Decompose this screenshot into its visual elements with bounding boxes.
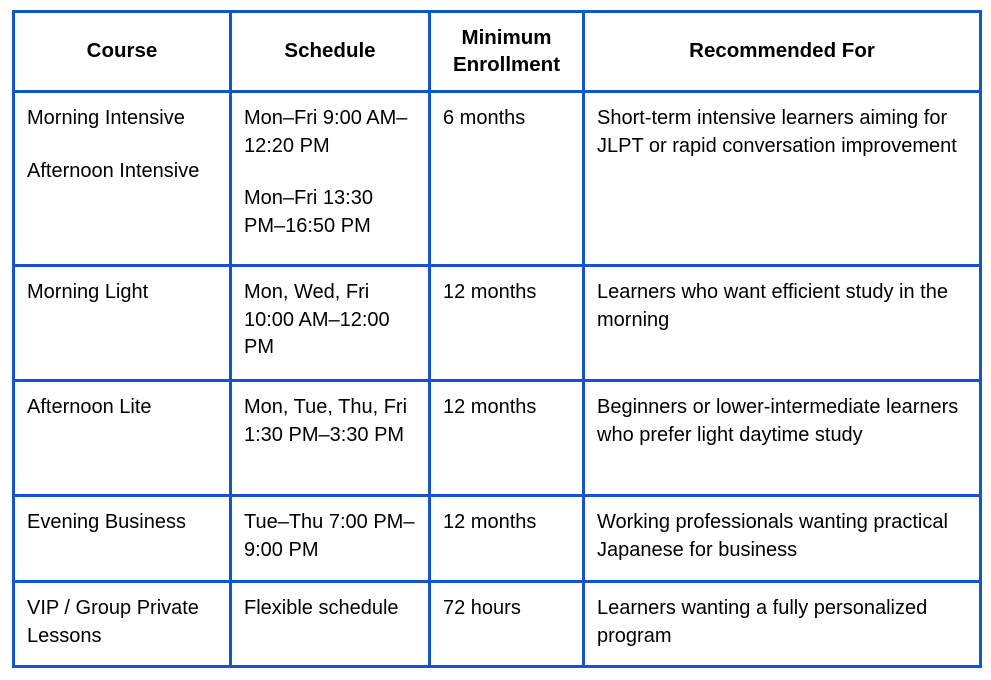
table-row: VIP / Group Private LessonsFlexible sche… — [14, 582, 981, 667]
cell-text: Mon, Wed, Fri 10:00 AM–12:00 PM — [244, 279, 418, 362]
cell-text: Tue–Thu 7:00 PM–9:00 PM — [244, 509, 418, 564]
column-header-minimum-enrollment: Minimum Enrollment — [430, 12, 584, 92]
cell-text: Working professionals wanting practical … — [597, 509, 969, 564]
cell-minimum: 72 hours — [430, 582, 584, 667]
cell-minimum: 12 months — [430, 266, 584, 381]
cell-text: Morning Light — [27, 279, 219, 307]
cell-course: VIP / Group Private Lessons — [14, 582, 231, 667]
cell-recommended: Learners who want efficient study in the… — [584, 266, 981, 381]
cell-minimum: 6 months — [430, 92, 584, 266]
course-comparison-table: Course Schedule Minimum Enrollment Recom… — [12, 10, 982, 668]
course-table-container: Course Schedule Minimum Enrollment Recom… — [12, 10, 979, 668]
cell-text: Afternoon Intensive — [27, 158, 219, 186]
cell-text: Beginners or lower-intermediate learners… — [597, 394, 969, 449]
cell-schedule: Mon–Fri 9:00 AM–12:20 PMMon–Fri 13:30 PM… — [231, 92, 430, 266]
cell-text: Mon, Tue, Thu, Fri 1:30 PM–3:30 PM — [244, 394, 418, 449]
cell-text: Short-term intensive learners aiming for… — [597, 105, 969, 160]
cell-text: Flexible schedule — [244, 595, 418, 623]
cell-minimum: 12 months — [430, 381, 584, 496]
cell-course: Evening Business — [14, 496, 231, 582]
cell-schedule: Flexible schedule — [231, 582, 430, 667]
cell-course: Afternoon Lite — [14, 381, 231, 496]
cell-recommended: Learners wanting a fully personalized pr… — [584, 582, 981, 667]
column-header-schedule: Schedule — [231, 12, 430, 92]
cell-minimum: 12 months — [430, 496, 584, 582]
cell-text: Afternoon Lite — [27, 394, 219, 422]
cell-text: VIP / Group Private Lessons — [27, 595, 219, 650]
cell-recommended: Short-term intensive learners aiming for… — [584, 92, 981, 266]
cell-recommended: Beginners or lower-intermediate learners… — [584, 381, 981, 496]
cell-recommended: Working professionals wanting practical … — [584, 496, 981, 582]
cell-text: 12 months — [443, 509, 572, 537]
cell-text: Mon–Fri 9:00 AM–12:20 PM — [244, 105, 418, 160]
table-row: Afternoon LiteMon, Tue, Thu, Fri 1:30 PM… — [14, 381, 981, 496]
column-header-course: Course — [14, 12, 231, 92]
cell-text: Mon–Fri 13:30 PM–16:50 PM — [244, 185, 418, 240]
page-root: Course Schedule Minimum Enrollment Recom… — [0, 0, 991, 680]
cell-schedule: Tue–Thu 7:00 PM–9:00 PM — [231, 496, 430, 582]
table-header: Course Schedule Minimum Enrollment Recom… — [14, 12, 981, 92]
cell-schedule: Mon, Tue, Thu, Fri 1:30 PM–3:30 PM — [231, 381, 430, 496]
cell-text: 6 months — [443, 105, 572, 133]
table-body: Morning IntensiveAfternoon IntensiveMon–… — [14, 92, 981, 667]
cell-schedule: Mon, Wed, Fri 10:00 AM–12:00 PM — [231, 266, 430, 381]
cell-text: Evening Business — [27, 509, 219, 537]
cell-text: Learners who want efficient study in the… — [597, 279, 969, 334]
cell-text: 12 months — [443, 279, 572, 307]
cell-text: Learners wanting a fully personalized pr… — [597, 595, 969, 650]
table-header-row: Course Schedule Minimum Enrollment Recom… — [14, 12, 981, 92]
cell-text: 12 months — [443, 394, 572, 422]
table-row: Morning IntensiveAfternoon IntensiveMon–… — [14, 92, 981, 266]
table-row: Evening BusinessTue–Thu 7:00 PM–9:00 PM1… — [14, 496, 981, 582]
column-header-recommended-for: Recommended For — [584, 12, 981, 92]
cell-text: 72 hours — [443, 595, 572, 623]
cell-course: Morning Light — [14, 266, 231, 381]
table-row: Morning LightMon, Wed, Fri 10:00 AM–12:0… — [14, 266, 981, 381]
cell-text: Morning Intensive — [27, 105, 219, 133]
cell-course: Morning IntensiveAfternoon Intensive — [14, 92, 231, 266]
